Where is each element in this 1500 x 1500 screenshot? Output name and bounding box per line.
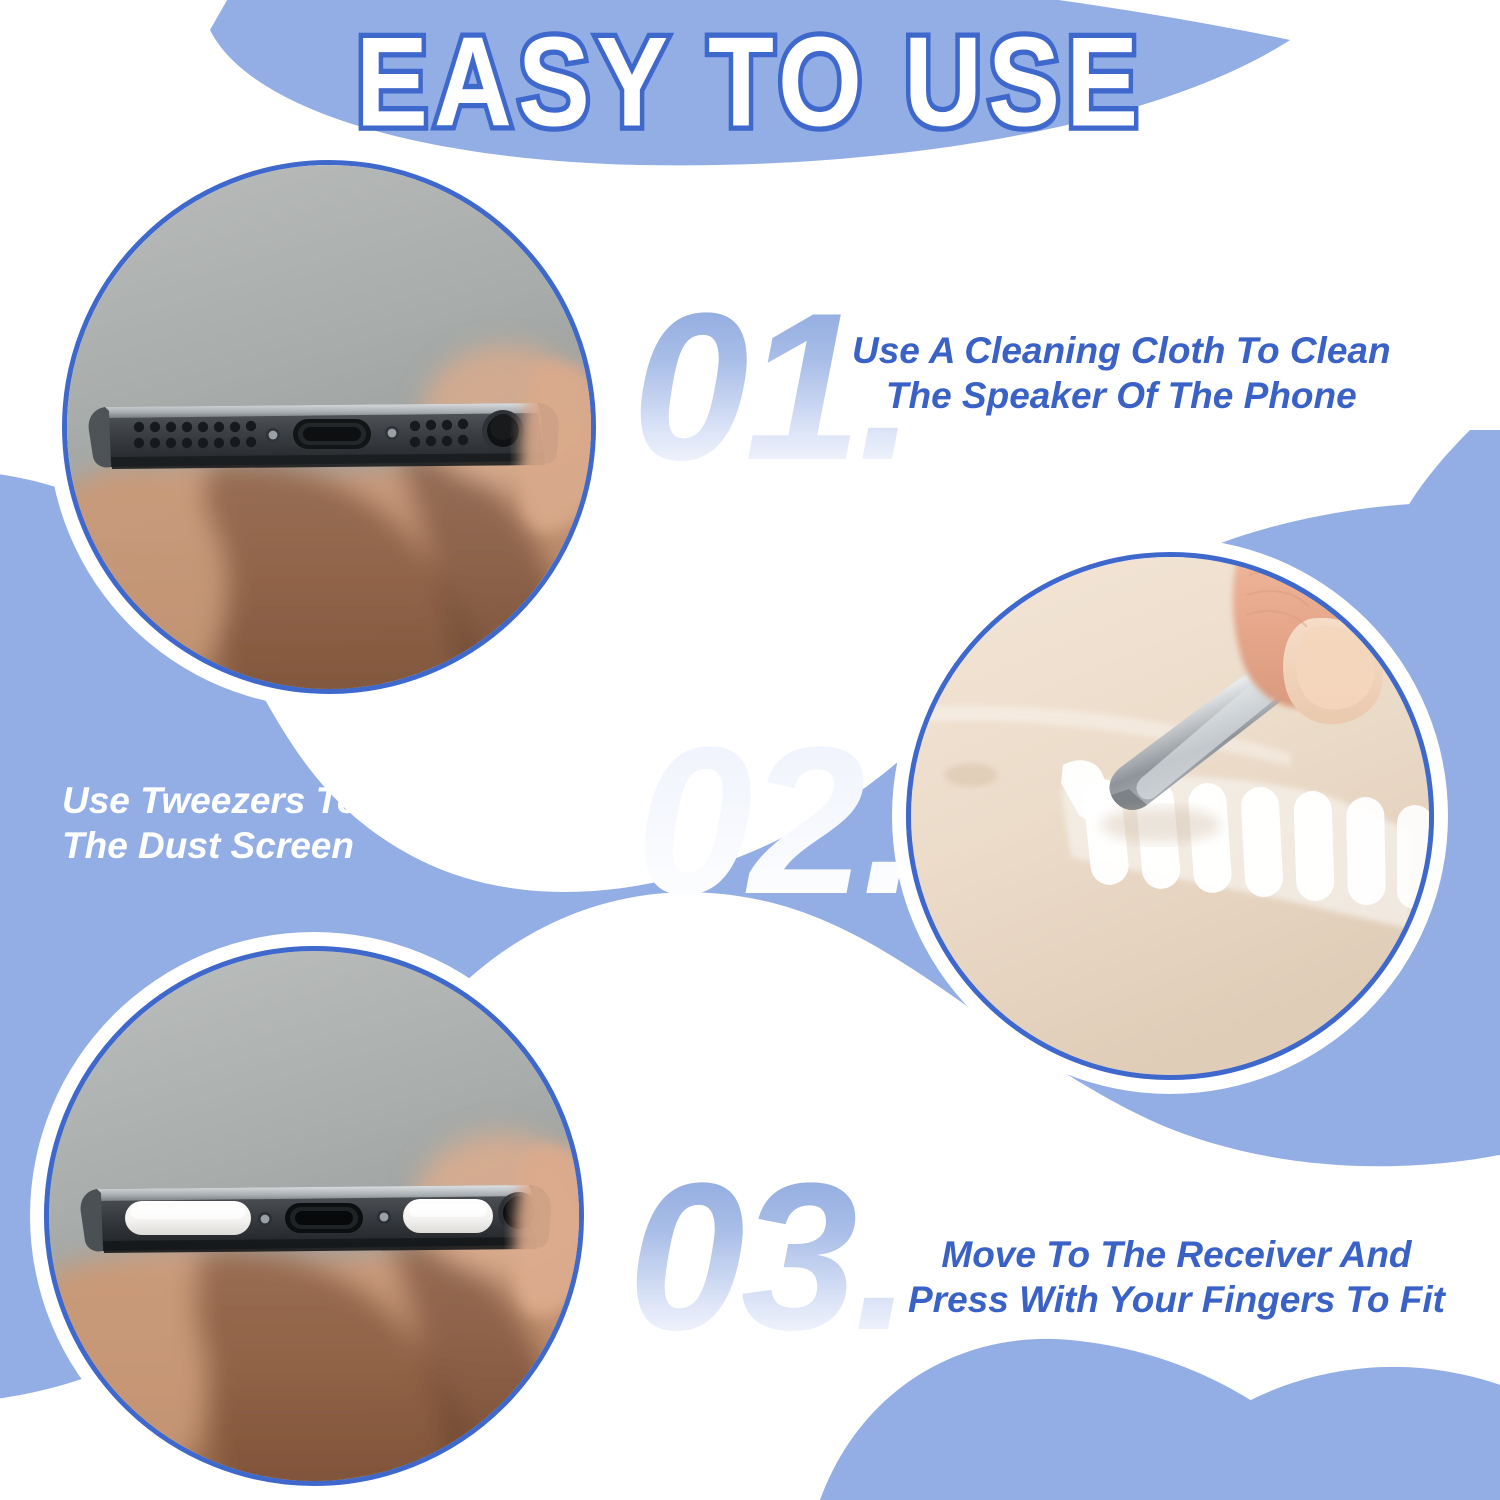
page-title: EASY TO USE bbox=[356, 14, 1144, 152]
step-caption-02: Use Tweezers To Pick Up The Dust Screen bbox=[62, 778, 505, 868]
step-caption-03: Move To The Receiver And Press With Your… bbox=[908, 1232, 1445, 1322]
step-caption-02-line-2: The Dust Screen bbox=[62, 823, 505, 868]
photo-2-illustration bbox=[911, 557, 1429, 1075]
dust-screen-right bbox=[403, 1199, 493, 1233]
photo-3-illustration bbox=[49, 951, 579, 1481]
easy-to-use-infographic: EASY TO USE bbox=[0, 0, 1500, 1500]
step-caption-01-line-2: The Speaker Of The Phone bbox=[852, 373, 1391, 418]
step-caption-03-line-1: Move To The Receiver And bbox=[908, 1232, 1445, 1277]
dust-screen-left bbox=[125, 1201, 251, 1235]
step-caption-03-line-2: Press With Your Fingers To Fit bbox=[908, 1277, 1445, 1322]
title-container: EASY TO USE bbox=[0, 24, 1500, 141]
photo-1-illustration bbox=[67, 165, 591, 689]
step-photo-3-phone-with-dust-screen-applied bbox=[44, 946, 584, 1486]
step-photo-2-tweezers-and-dust-screens bbox=[906, 552, 1434, 1080]
step-caption-01: Use A Cleaning Cloth To Clean The Speake… bbox=[852, 328, 1391, 418]
step-caption-01-line-1: Use A Cleaning Cloth To Clean bbox=[852, 328, 1391, 373]
step-number-02: 02. bbox=[636, 716, 916, 926]
step-number-03: 03. bbox=[628, 1152, 908, 1362]
step-photo-1-hand-holding-phone bbox=[62, 160, 596, 694]
step-caption-02-line-1: Use Tweezers To Pick Up bbox=[62, 778, 505, 823]
